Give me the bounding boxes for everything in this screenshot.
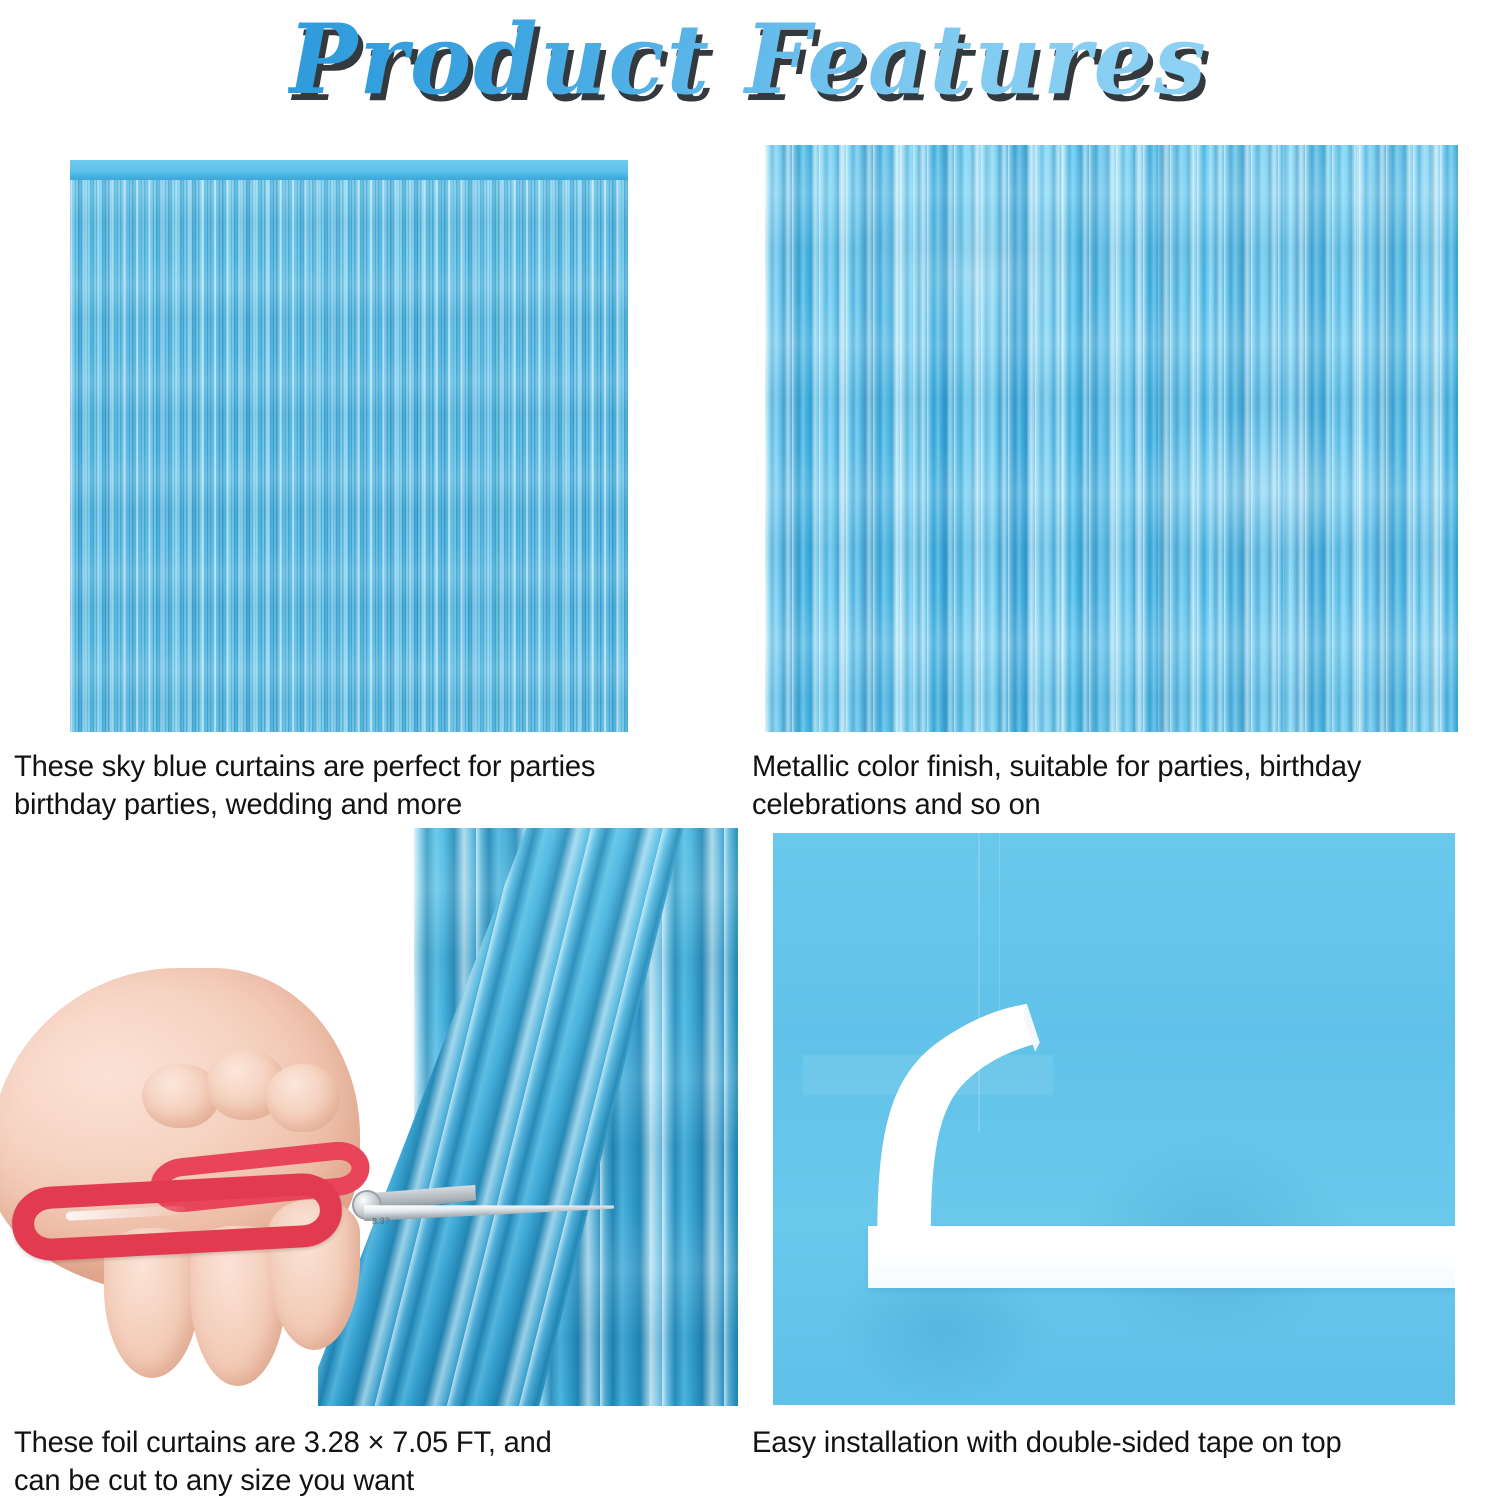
feature-card-1: [70, 160, 628, 732]
caption-line: Easy installation with double-sided tape…: [752, 1424, 1470, 1462]
feature-card-4: [773, 833, 1455, 1405]
double-sided-tape-strip: [868, 1226, 1455, 1288]
double-sided-tape-photo: [773, 833, 1455, 1405]
feature-caption-1: These sky blue curtains are perfect for …: [14, 748, 709, 825]
caption-line: birthday parties, wedding and more: [14, 786, 709, 824]
feature-card-3: 8.3?: [0, 828, 738, 1406]
blue-sheet: [773, 833, 1455, 1405]
fringe-texture: [70, 160, 628, 732]
cutting-curtain-with-scissors-photo: 8.3?: [0, 828, 738, 1406]
double-sided-tape-peel: [868, 933, 1108, 1263]
curtain-header-strip: [70, 160, 628, 180]
feature-caption-4: Easy installation with double-sided tape…: [752, 1424, 1470, 1462]
caption-line: These sky blue curtains are perfect for …: [14, 748, 709, 786]
metallic-finish-curtain-photo: [765, 145, 1458, 732]
caption-line: can be cut to any size you want: [14, 1462, 709, 1500]
page-title-area: Product Features Product Features: [0, 0, 1495, 120]
sky-blue-fringe-curtain-photo: [70, 160, 628, 732]
caption-line: Metallic color finish, suitable for part…: [752, 748, 1470, 786]
page-title: Product Features: [288, 12, 1208, 108]
knuckle: [266, 1064, 340, 1132]
scissors-blade-marking: 8.3?: [372, 1216, 390, 1227]
foil-curtain-bundle: [318, 828, 738, 1406]
metallic-strip-texture: [765, 145, 1458, 732]
caption-line: These foil curtains are 3.28 × 7.05 FT, …: [14, 1424, 709, 1462]
feature-card-2: [765, 145, 1458, 732]
feature-caption-3: These foil curtains are 3.28 × 7.05 FT, …: [14, 1424, 709, 1501]
caption-line: celebrations and so on: [752, 786, 1470, 824]
feature-caption-2: Metallic color finish, suitable for part…: [752, 748, 1470, 825]
cut-scene: 8.3?: [0, 828, 738, 1406]
